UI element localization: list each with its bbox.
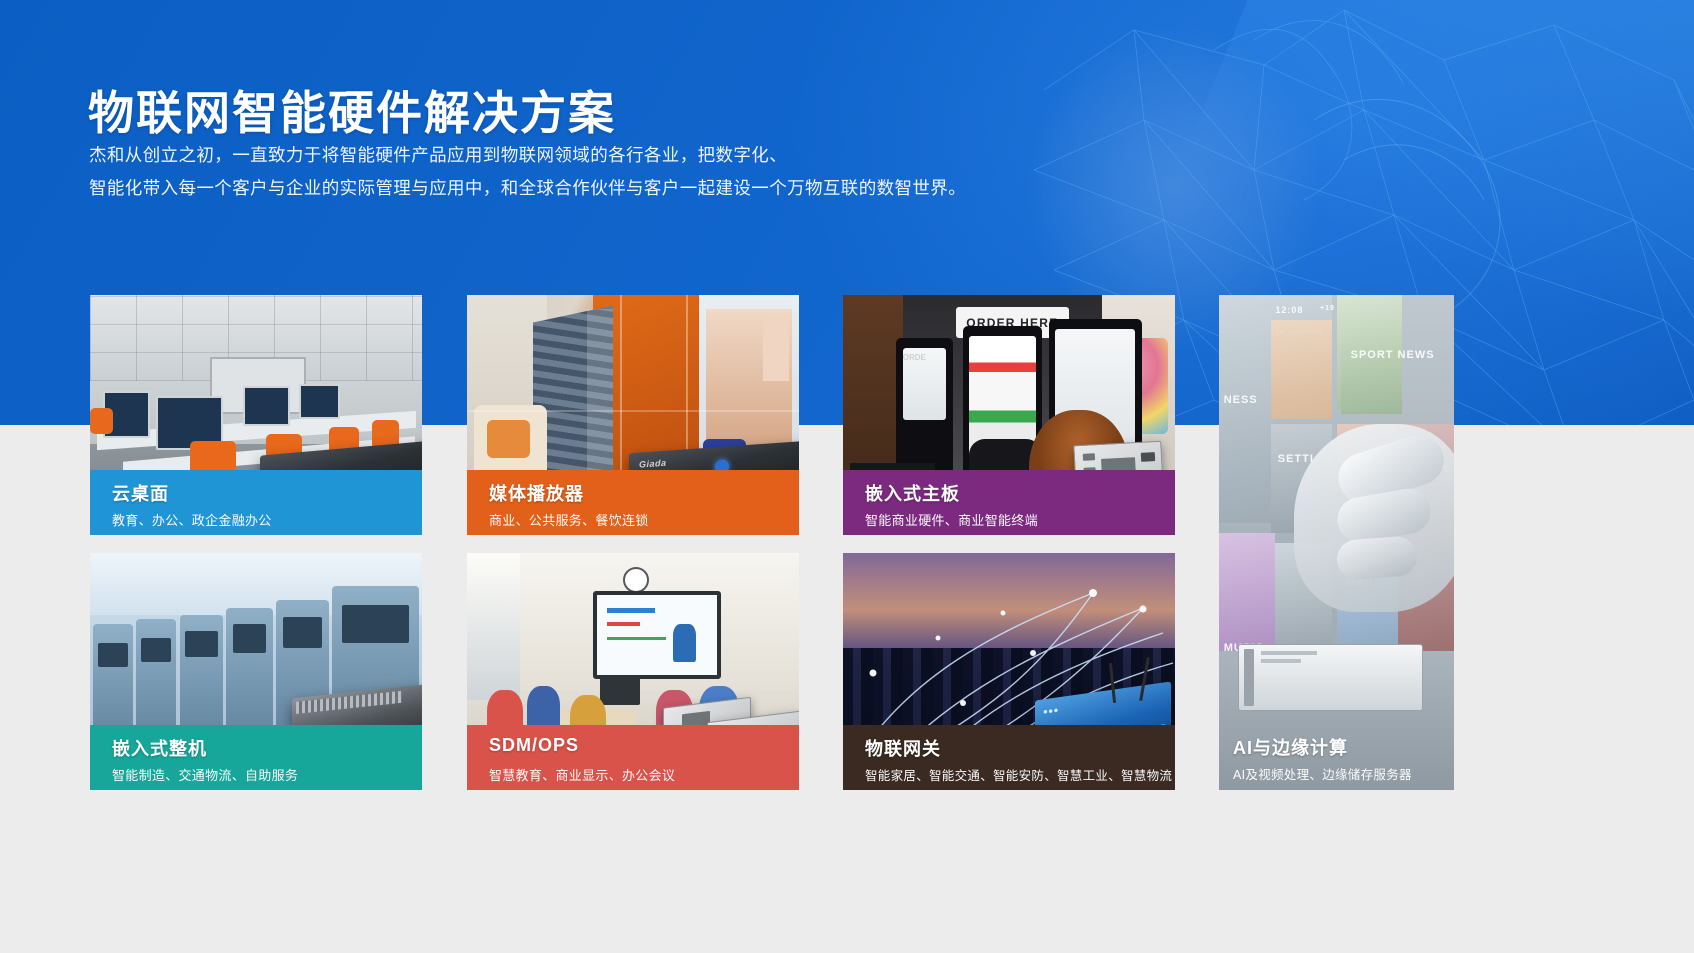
card-label-band: SDM/OPS 智慧教育、商业显示、办公会议 bbox=[467, 725, 799, 790]
card-cloud-desktop[interactable]: Giada 云桌面 教育、办公、政企金融办公 bbox=[90, 295, 422, 535]
card-subtitle: 智慧教育、商业显示、办公会议 bbox=[489, 765, 675, 784]
card-title: 嵌入式主板 bbox=[865, 480, 960, 506]
card-iot-gateway[interactable]: ●●● 物联网关 智能家居、智能交通、智能安防、智慧工业、智慧物流 bbox=[843, 553, 1175, 790]
card-title: SDM/OPS bbox=[489, 735, 579, 756]
card-label-band: 媒体播放器 商业、公共服务、餐饮连锁 bbox=[467, 470, 799, 535]
tile-label-business: NESS bbox=[1224, 394, 1258, 406]
device-brand-label: Giada bbox=[639, 458, 667, 470]
tile-clock: 12:08 bbox=[1275, 305, 1303, 315]
card-title: AI与边缘计算 bbox=[1233, 734, 1348, 760]
card-label-band: 嵌入式整机 智能制造、交通物流、自助服务 bbox=[90, 725, 422, 790]
card-label-band: 云桌面 教育、办公、政企金融办公 bbox=[90, 470, 422, 535]
card-photo-ai-tiles: NESS 12:08 18 AUGUST +19 C SPORT NEWS SE… bbox=[1219, 295, 1454, 790]
card-label-band: AI与边缘计算 AI及视频处理、边缘储存服务器 bbox=[1219, 724, 1454, 790]
card-title: 嵌入式整机 bbox=[112, 735, 207, 761]
page-root: 物联网智能硬件解决方案 杰和从创立之初，一直致力于将智能硬件产品应用到物联网领域… bbox=[0, 0, 1694, 953]
card-subtitle: AI及视频处理、边缘储存服务器 bbox=[1233, 764, 1412, 783]
interactive-whiteboard bbox=[593, 591, 721, 680]
edge-server-device bbox=[1238, 644, 1423, 710]
card-embedded-motherboard[interactable]: ORDER HERE ORDE cDonald's bbox=[843, 295, 1175, 535]
card-subtitle: 智能制造、交通物流、自助服务 bbox=[112, 765, 298, 784]
card-title: 媒体播放器 bbox=[489, 480, 584, 506]
card-title: 云桌面 bbox=[112, 480, 169, 506]
card-embedded-system[interactable]: 嵌入式整机 智能制造、交通物流、自助服务 bbox=[90, 553, 422, 790]
solution-card-grid: Giada 云桌面 教育、办公、政企金融办公 bbox=[0, 0, 1694, 953]
gateway-brand-text: ●●● bbox=[1043, 705, 1059, 716]
card-title: 物联网关 bbox=[865, 735, 941, 761]
card-subtitle: 教育、办公、政企金融办公 bbox=[112, 510, 272, 529]
card-subtitle: 智能商业硬件、商业智能终端 bbox=[865, 510, 1038, 529]
kiosk-order-text: ORDE bbox=[903, 353, 926, 362]
card-label-band: 物联网关 智能家居、智能交通、智能安防、智慧工业、智慧物流 bbox=[843, 725, 1175, 790]
card-subtitle: 智能家居、智能交通、智能安防、智慧工业、智慧物流 bbox=[865, 765, 1172, 784]
tile-label-sport-news: SPORT NEWS bbox=[1351, 349, 1435, 361]
card-subtitle: 商业、公共服务、餐饮连锁 bbox=[489, 510, 649, 529]
card-ai-edge-computing[interactable]: NESS 12:08 18 AUGUST +19 C SPORT NEWS SE… bbox=[1219, 295, 1454, 790]
card-label-band: 嵌入式主板 智能商业硬件、商业智能终端 bbox=[843, 470, 1175, 535]
card-media-player[interactable]: im EG Giada 媒体播放器 商业、公共服务、餐饮连锁 bbox=[467, 295, 799, 535]
card-sdm-ops[interactable]: SDM/OPS 智慧教育、商业显示、办公会议 bbox=[467, 553, 799, 790]
